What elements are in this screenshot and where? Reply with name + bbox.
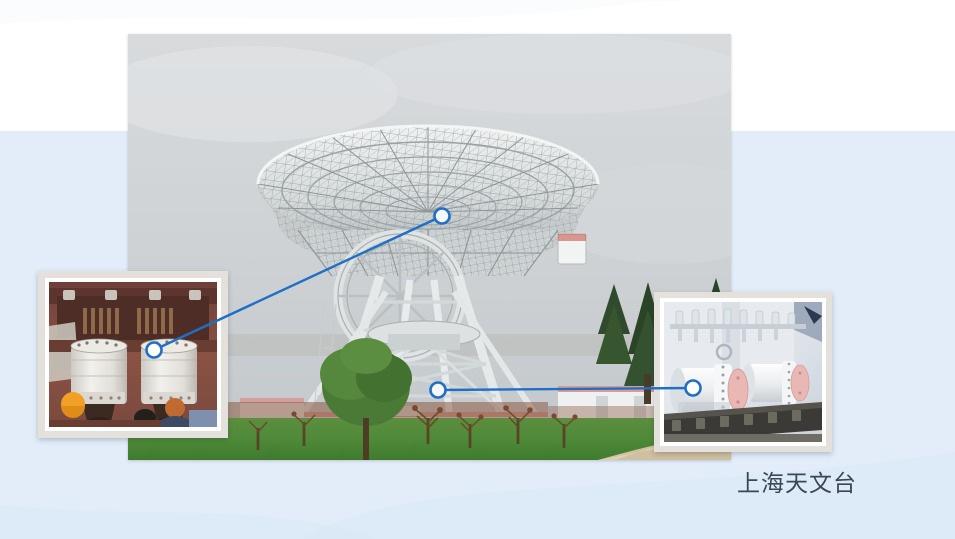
callout-left-azimuth-drive[interactable] bbox=[38, 271, 228, 438]
slide-caption: 上海天文台 bbox=[737, 469, 857, 499]
callout-right-photo bbox=[664, 302, 822, 442]
callout-right-elevation-drive[interactable] bbox=[654, 292, 832, 452]
callout-left-photo bbox=[49, 282, 217, 427]
